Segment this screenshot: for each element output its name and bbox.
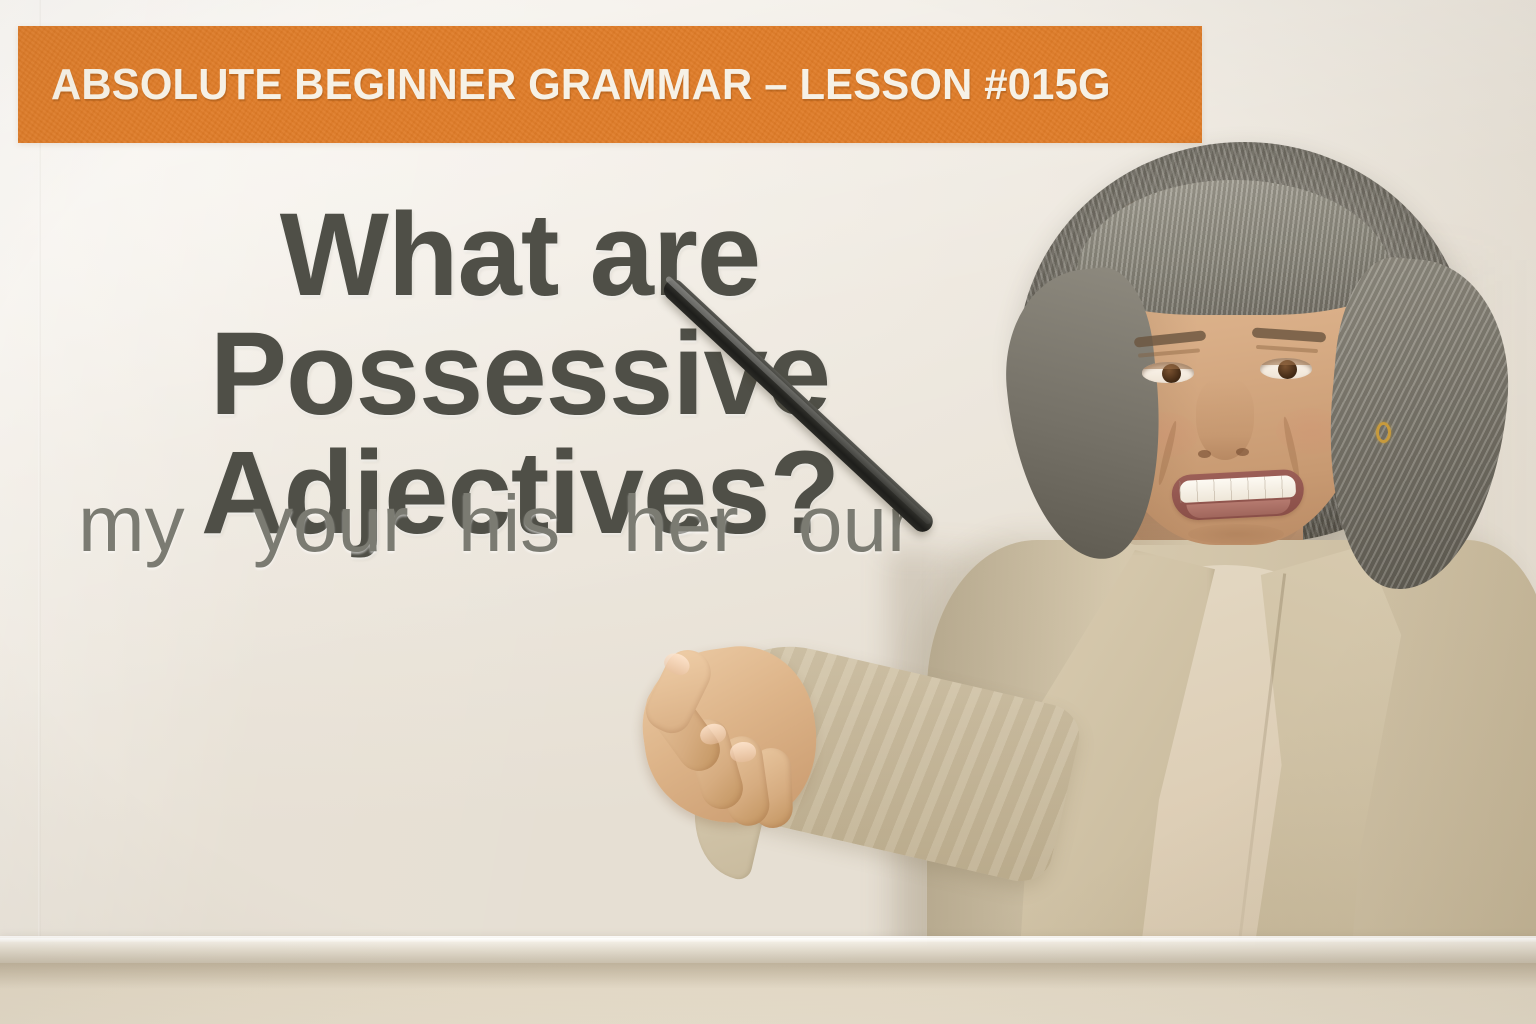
upper-lid-left: [1142, 362, 1194, 369]
teacher-photo: [640, 120, 1536, 1024]
nostril-right: [1236, 448, 1249, 456]
whiteboard-tray-highlight: [0, 938, 1536, 942]
lesson-slide: ABSOLUTE BEGINNER GRAMMAR – LESSON #015G…: [0, 0, 1536, 1024]
pointer-stick-highlight: [665, 275, 932, 525]
gold-hoop-earring-icon: [1376, 422, 1391, 443]
word-your: your: [253, 484, 458, 564]
smiling-mouth: [1171, 469, 1305, 522]
upper-lid-right: [1260, 358, 1312, 365]
lower-lip: [1186, 499, 1291, 518]
teeth: [1179, 475, 1296, 503]
tray-drop-shadow: [0, 963, 1536, 989]
word-my: my: [78, 484, 253, 564]
lesson-banner-title: ABSOLUTE BEGINNER GRAMMAR – LESSON #015G: [51, 63, 1111, 107]
eye-right: [1260, 358, 1312, 379]
eye-left: [1142, 362, 1194, 383]
chin-shadow: [1188, 524, 1284, 544]
nostril-left: [1198, 450, 1211, 458]
word-his: his: [458, 484, 623, 564]
